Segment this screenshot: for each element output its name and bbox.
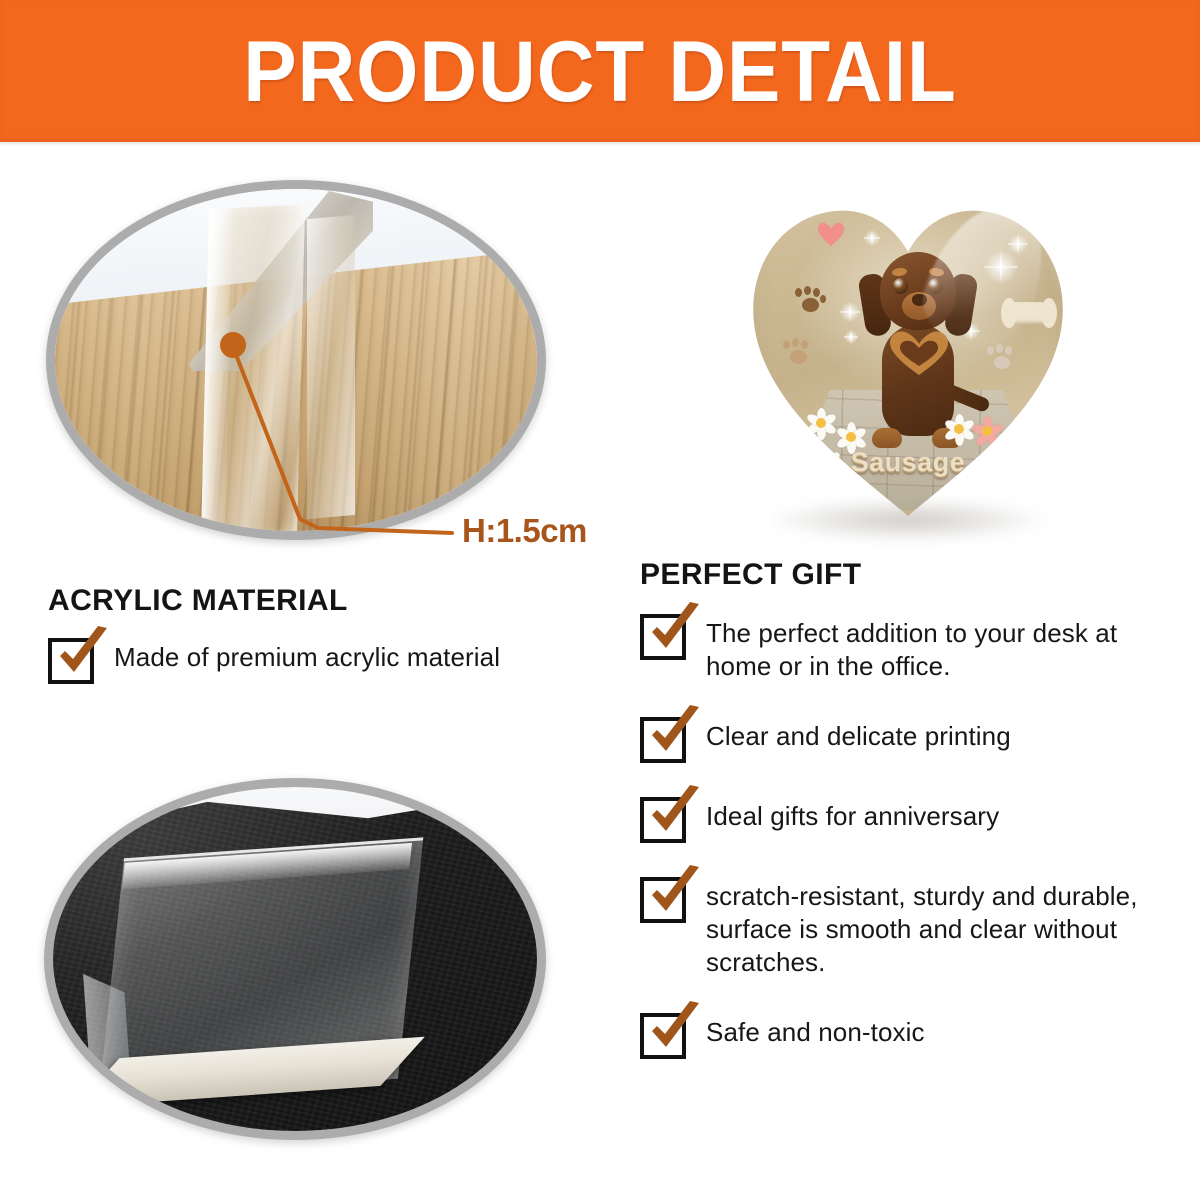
daisy-flower <box>996 440 1026 470</box>
slate-scene <box>53 787 537 1131</box>
acrylic-block-photo <box>44 778 546 1140</box>
checkbox-icon <box>640 797 686 843</box>
feature-item: Clear and delicate printing <box>640 715 1180 763</box>
checkmark-icon <box>643 865 705 923</box>
feature-text: Made of premium acrylic material <box>114 636 500 674</box>
heart-acrylic-plaque: Sausage <box>736 172 1080 550</box>
wood-floor-scene <box>55 189 537 531</box>
feature-item: The perfect addition to your desk at hom… <box>640 612 1180 683</box>
feature-item: scratch-resistant, sturdy and durable, s… <box>640 875 1180 979</box>
dog-front-paw <box>872 428 902 448</box>
paw-print-icon <box>984 344 1018 376</box>
page-title: PRODUCT DETAIL <box>42 22 1158 122</box>
daisy-flower <box>806 408 836 438</box>
feature-text: The perfect addition to your desk at hom… <box>706 612 1180 683</box>
feature-text: scratch-resistant, sturdy and durable, s… <box>706 875 1180 979</box>
feature-item: Made of premium acrylic material <box>48 636 588 684</box>
checkbox-icon <box>640 614 686 660</box>
feature-list-perfect-gift: The perfect addition to your desk at hom… <box>640 612 1180 1091</box>
section-heading-acrylic-material: ACRYLIC MATERIAL <box>48 584 348 618</box>
acrylic-slab <box>201 205 305 540</box>
height-callout-dot <box>220 332 246 358</box>
checkmark-icon <box>643 785 705 843</box>
dog-eye <box>893 278 908 294</box>
acrylic-right-edge <box>307 215 355 519</box>
checkbox-icon <box>48 638 94 684</box>
feature-item: Ideal gifts for anniversary <box>640 795 1180 843</box>
feature-text: Clear and delicate printing <box>706 715 1011 753</box>
checkbox-icon <box>640 877 686 923</box>
sparkle-icon <box>864 230 880 246</box>
checkbox-icon <box>640 1013 686 1059</box>
pink-flower <box>972 416 1002 446</box>
heart-decoration-icon <box>818 222 844 246</box>
checkmark-icon <box>643 705 705 763</box>
header-banner: PRODUCT DETAIL <box>0 0 1200 142</box>
acrylic-edge-photo <box>46 180 546 540</box>
height-dimension-label: H:1.5cm <box>462 512 587 550</box>
dog-heart-hands <box>890 330 948 376</box>
checkmark-icon <box>51 626 113 684</box>
checkbox-icon <box>640 717 686 763</box>
section-heading-perfect-gift: PERFECT GIFT <box>640 558 861 592</box>
feature-text: Ideal gifts for anniversary <box>706 795 999 833</box>
paw-print-icon <box>780 338 814 370</box>
checkmark-icon <box>643 602 705 660</box>
feature-item: Safe and non-toxic <box>640 1011 1180 1059</box>
checkmark-icon <box>643 1001 705 1059</box>
pet-name-text: Sausage <box>744 447 1072 478</box>
feature-list-acrylic-material: Made of premium acrylic material <box>48 636 588 710</box>
feature-text: Safe and non-toxic <box>706 1011 925 1049</box>
daisy-flower <box>944 414 974 444</box>
paw-print-icon <box>792 286 826 318</box>
